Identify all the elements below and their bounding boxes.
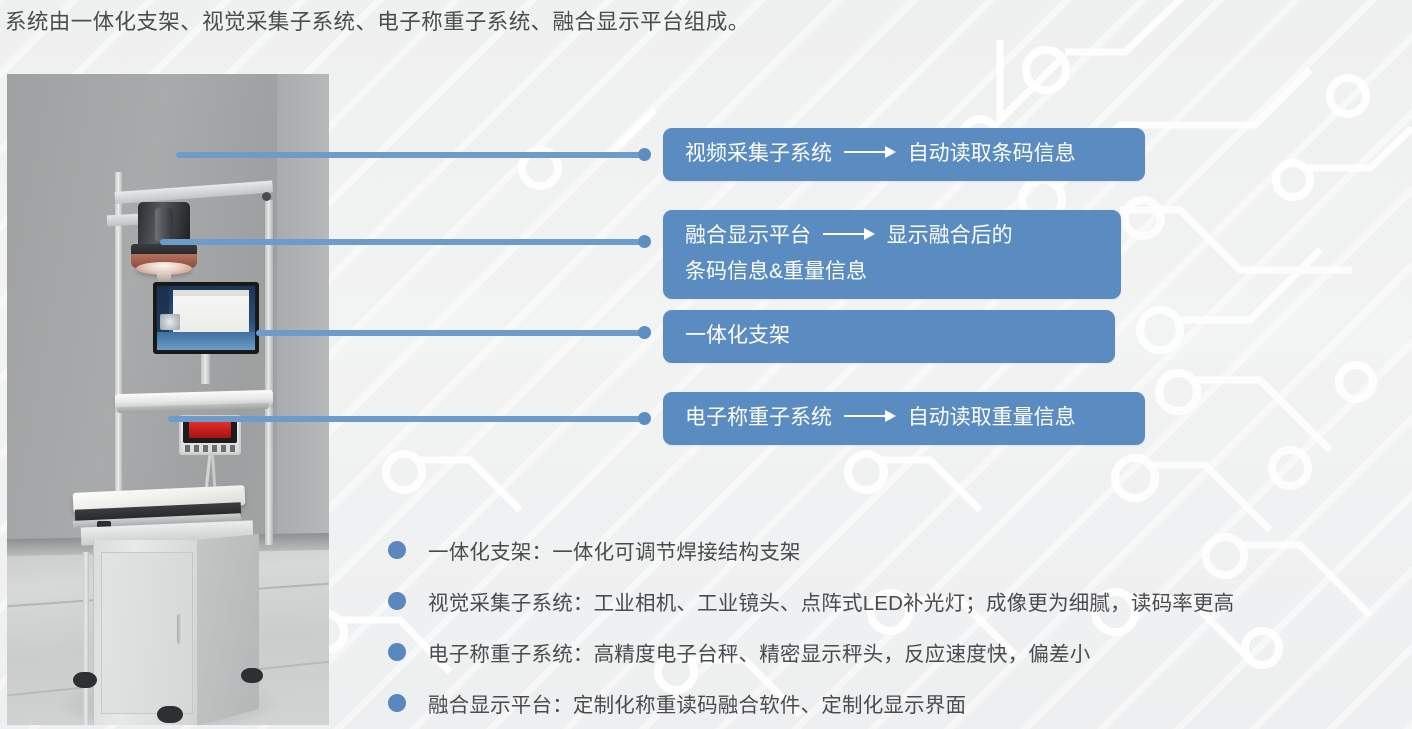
arrow-right-icon [823,228,875,240]
callout-video-capture-subsystem[interactable]: 视频采集子系统 自动读取条码信息 [663,128,1145,181]
photo-cabinet-foot [73,672,97,688]
callout-value-line2: 条码信息&重量信息 [685,254,1099,290]
photo-cabinet-foot [241,668,263,683]
photo-frame-post-left [115,172,122,544]
photo-wall-right [277,74,329,552]
arrow-right-icon [844,146,896,158]
connector-line-integrated-bracket [256,330,646,336]
callout-value: 自动读取重量信息 [908,406,1076,429]
connector-line-video-capture [176,152,646,158]
photo-monitor-wallpaper [157,332,255,350]
bullet-electronic-weighing: 电子称重子系统：高精度电子台秤、精密显示秤头，反应速度快，偏差小 [428,637,1090,667]
callout-label: 一体化支架 [685,324,790,347]
connector-endpoint-video-capture [638,148,651,161]
connector-line-electronic-weighing [168,416,646,422]
callout-label: 电子称重子系统 [685,406,832,429]
feature-bullet-list: 一体化支架：一体化可调节焊接结构支架 视觉采集子系统：工业相机、工业镜头、点阵式… [388,524,1234,728]
connector-endpoint-fusion-display [638,235,651,248]
photo-frame-bolt [262,192,271,201]
photo-cabinet-handle [177,614,182,644]
callout-value: 显示融合后的 [887,224,1013,247]
photo-monitor-window [173,290,249,334]
page-title: 系统由一体化支架、视觉采集子系统、电子称重子系统、融合显示平台组成。 [5,7,750,37]
callout-electronic-weighing-subsystem[interactable]: 电子称重子系统 自动读取重量信息 [663,392,1145,445]
photo-monitor-thumbnail [160,314,180,330]
bullet-dot-icon [388,541,406,559]
bullet-integrated-bracket: 一体化支架：一体化可调节焊接结构支架 [428,535,801,565]
photo-monitor-window-titlebar [173,290,249,296]
equipment-photo [7,74,329,725]
callout-label: 视频采集子系统 [685,142,832,165]
callout-integrated-bracket[interactable]: 一体化支架 [663,310,1115,363]
bullet-dot-icon [388,694,406,712]
bullet-fusion-display: 融合显示平台：定制化称重读码融合软件、定制化显示界面 [428,688,966,718]
arrow-right-icon [844,410,896,422]
bullet-dot-icon [388,643,406,661]
photo-frame-post-right [265,200,273,545]
photo-indicator-keypad [185,445,235,452]
callout-label: 融合显示平台 [685,224,811,247]
list-item: 视觉采集子系统：工业相机、工业镜头、点阵式LED补光灯；成像更为细腻，读码率更高 [388,575,1234,626]
bullet-dot-icon [388,592,406,610]
list-item: 电子称重子系统：高精度电子台秤、精密显示秤头，反应速度快，偏差小 [388,626,1234,677]
photo-cabinet-foot [157,706,183,723]
photo-indicator-display [189,422,231,438]
connector-endpoint-electronic-weighing [638,412,651,425]
callout-value: 自动读取条码信息 [908,142,1076,165]
photo-monitor-stand [201,354,210,384]
photo-cabinet-side [197,534,259,725]
photo-camera-lens [155,208,173,242]
list-item: 融合显示平台：定制化称重读码融合软件、定制化显示界面 [388,677,1234,728]
list-item: 一体化支架：一体化可调节焊接结构支架 [388,524,1234,575]
callout-fusion-display-platform[interactable]: 融合显示平台 显示融合后的 条码信息&重量信息 [663,210,1121,299]
photo-led-mount [157,272,171,281]
connector-endpoint-integrated-bracket [638,326,651,339]
connector-line-fusion-display [160,239,646,245]
photo-cabinet-leg [83,552,89,725]
bullet-vision-capture: 视觉采集子系统：工业相机、工业镜头、点阵式LED补光灯；成像更为细腻，读码率更高 [428,586,1234,616]
